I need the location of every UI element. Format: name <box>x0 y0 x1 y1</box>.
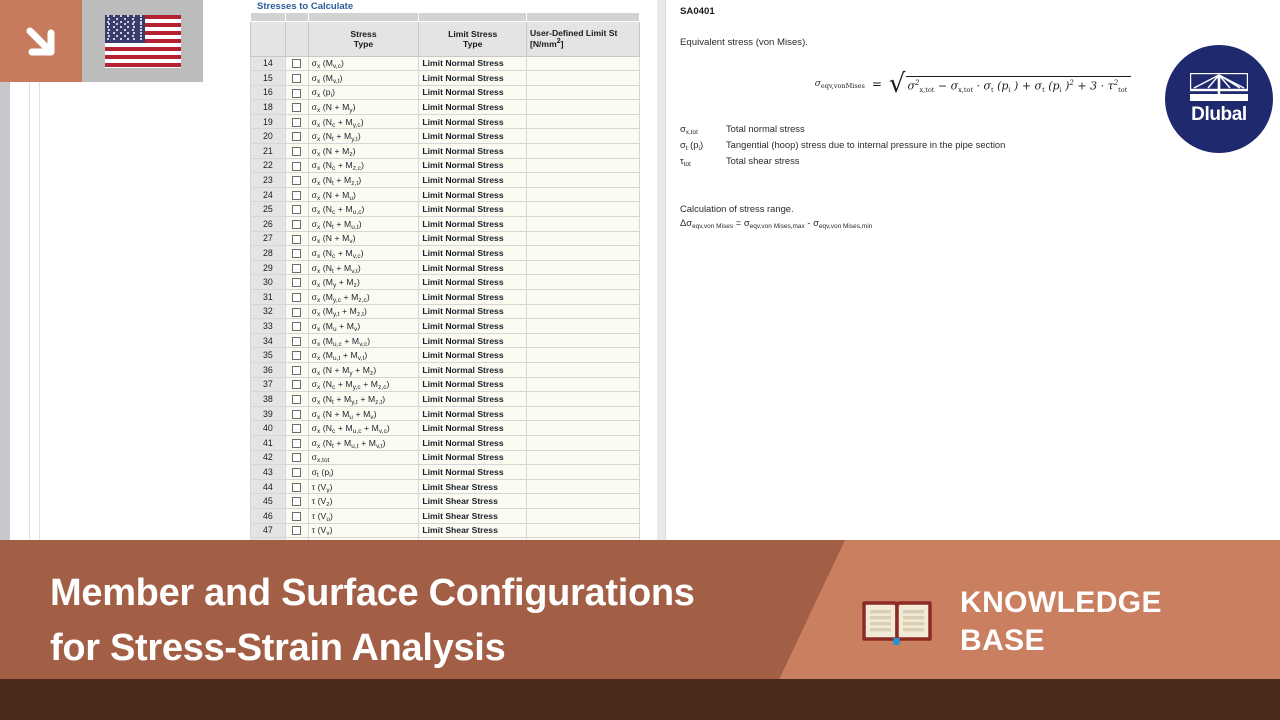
user-defined-limit-cell[interactable] <box>526 494 639 509</box>
checkbox-icon[interactable] <box>292 249 301 258</box>
flag-star <box>124 29 126 31</box>
user-defined-limit-cell[interactable] <box>526 304 639 319</box>
row-checkbox-cell[interactable] <box>285 377 308 392</box>
user-defined-limit-cell[interactable] <box>526 114 639 129</box>
checkbox-icon[interactable] <box>292 89 301 98</box>
limit-stress-type-cell[interactable]: Limit Normal Stress <box>419 231 527 246</box>
checkbox-icon[interactable] <box>292 322 301 331</box>
subscript: x <box>317 341 320 348</box>
limit-stress-type-cell[interactable]: Limit Normal Stress <box>419 435 527 450</box>
legend-symbol-sub: tot <box>684 161 691 168</box>
subscript: x <box>317 63 320 70</box>
stress-type-cell[interactable]: σx (N + Mu) <box>308 187 419 202</box>
stress-type-cell[interactable]: σx (Mu + Mv) <box>308 319 419 334</box>
checkbox-icon[interactable] <box>292 439 301 448</box>
row-checkbox-cell[interactable] <box>285 406 308 421</box>
limit-stress-type-cell[interactable]: Limit Shear Stress <box>419 523 527 538</box>
table-row[interactable]: 26σx (Nt + Mu,t)Limit Normal Stress <box>251 217 640 232</box>
flag-canton <box>105 15 145 44</box>
row-number: 19 <box>251 114 286 129</box>
stress-arg-end: + M <box>337 321 354 331</box>
user-defined-limit-cell[interactable] <box>526 275 639 290</box>
row-checkbox-cell[interactable] <box>285 508 308 523</box>
limit-stress-type-cell[interactable]: Limit Normal Stress <box>419 158 527 173</box>
table-row[interactable]: 40σx (Nc + Mu,c + Mv,c)Limit Normal Stre… <box>251 421 640 436</box>
row-checkbox-cell[interactable] <box>285 100 308 115</box>
table-row[interactable]: 38σx (Nt + My,t + Mz,t)Limit Normal Stre… <box>251 392 640 407</box>
checkbox-icon[interactable] <box>292 147 301 156</box>
subscript: v,c <box>333 63 341 70</box>
user-defined-limit-cell[interactable] <box>526 217 639 232</box>
user-defined-limit-cell[interactable] <box>526 450 639 465</box>
subscript: y <box>333 282 336 289</box>
stress-type-cell[interactable]: σx (Nc + Mz,c) <box>308 158 419 173</box>
table-row[interactable]: 35σx (Mu,t + Mv,t)Limit Normal Stress <box>251 348 640 363</box>
limit-stress-type-cell[interactable]: Limit Normal Stress <box>419 275 527 290</box>
user-defined-limit-cell[interactable] <box>526 435 639 450</box>
checkbox-icon[interactable] <box>292 176 301 185</box>
checkbox-icon[interactable] <box>292 118 301 127</box>
stress-type-cell[interactable]: σx (Nc + My,c + Mz,c) <box>308 377 419 392</box>
table-row[interactable]: 14σx (Mv,c)Limit Normal Stress <box>251 56 640 71</box>
row-checkbox-cell[interactable] <box>285 421 308 436</box>
limit-stress-type-cell[interactable]: Limit Normal Stress <box>419 421 527 436</box>
limit-stress-type-cell[interactable]: Limit Normal Stress <box>419 246 527 261</box>
user-defined-limit-cell[interactable] <box>526 348 639 363</box>
stress-arg: (M <box>320 321 333 331</box>
limit-stress-type-cell[interactable]: Limit Normal Stress <box>419 100 527 115</box>
user-defined-limit-cell[interactable] <box>526 290 639 305</box>
subscript: x <box>317 370 320 377</box>
subscript: x <box>317 268 320 275</box>
stress-type-cell[interactable]: σx (N + My + Mz) <box>308 362 419 377</box>
row-checkbox-cell[interactable] <box>285 173 308 188</box>
row-checkbox-cell[interactable] <box>285 435 308 450</box>
user-defined-limit-cell[interactable] <box>526 392 639 407</box>
stress-type-cell[interactable]: σt (pi) <box>308 465 419 480</box>
limit-stress-type-cell[interactable]: Limit Normal Stress <box>419 406 527 421</box>
limit-stress-type-cell[interactable]: Limit Normal Stress <box>419 217 527 232</box>
dlubal-frame-icon <box>1190 73 1248 101</box>
stress-arg: (N + M <box>320 146 349 156</box>
stress-type-cell[interactable]: σx (Mv,t) <box>308 71 419 86</box>
banner-title-line1: Member and Surface Configurations <box>50 566 695 621</box>
flag-star <box>116 35 118 37</box>
table-row[interactable]: 30σx (My + Mz)Limit Normal Stress <box>251 275 640 290</box>
stress-arg: (p <box>319 467 329 477</box>
f-b6-sub: i <box>1060 86 1062 94</box>
row-checkbox-cell[interactable] <box>285 260 308 275</box>
table-row[interactable]: 18σx (N + My)Limit Normal Stress <box>251 100 640 115</box>
subscript: u <box>349 414 353 421</box>
subscript: v,c <box>353 253 361 260</box>
row-checkbox-cell[interactable] <box>285 479 308 494</box>
stress-type-cell[interactable]: σx (My + Mz) <box>308 275 419 290</box>
stress-type-cell[interactable]: σx (Mv,c) <box>308 56 419 71</box>
checkbox-icon[interactable] <box>292 162 301 171</box>
limit-stress-type-cell[interactable]: Limit Normal Stress <box>419 304 527 319</box>
row-number: 18 <box>251 100 286 115</box>
stress-arg-end2: ) <box>359 219 362 229</box>
limit-stress-type-cell[interactable]: Limit Normal Stress <box>419 129 527 144</box>
checkbox-icon[interactable] <box>292 497 301 506</box>
checkbox-icon[interactable] <box>292 308 301 317</box>
f-b3: · σ <box>976 80 991 93</box>
table-row[interactable]: 31σx (My,c + Mz,c)Limit Normal Stress <box>251 290 640 305</box>
row-checkbox-cell[interactable] <box>285 187 308 202</box>
subscript: x <box>317 224 320 231</box>
table-row[interactable]: 27σx (N + Mv)Limit Normal Stress <box>251 231 640 246</box>
stress-arg: (N + M <box>320 233 349 243</box>
stress-arg: (N + M <box>320 102 349 112</box>
stress-type-cell[interactable]: σx (N + My) <box>308 100 419 115</box>
row-checkbox-cell[interactable] <box>285 85 308 100</box>
stress-type-cell[interactable]: σx,tot <box>308 450 419 465</box>
checkbox-icon[interactable] <box>292 410 301 419</box>
table-row[interactable]: 37σx (Nc + My,c + Mz,c)Limit Normal Stre… <box>251 377 640 392</box>
subscript: x <box>317 151 320 158</box>
stress-arg: (N <box>320 423 332 433</box>
row-number: 45 <box>251 494 286 509</box>
radical-body: σ2x,tot − σx,tot · σt (pi ) + σt (pi )2 … <box>906 76 1132 93</box>
user-defined-limit-cell[interactable] <box>526 202 639 217</box>
limit-stress-type-cell[interactable]: Limit Normal Stress <box>419 114 527 129</box>
row-checkbox-cell[interactable] <box>285 494 308 509</box>
stress-arg-end: ) <box>353 233 356 243</box>
table-row[interactable]: 46τ (Vu)Limit Shear Stress <box>251 508 640 523</box>
flag-star <box>140 29 142 31</box>
row-checkbox-cell[interactable] <box>285 465 308 480</box>
stress-type-cell[interactable]: σx (Mu,c + Mv,c) <box>308 333 419 348</box>
user-defined-limit-cell[interactable] <box>526 100 639 115</box>
stress-type-cell[interactable]: σx (N + Mu + Mv) <box>308 406 419 421</box>
table-row[interactable]: 47τ (Vv)Limit Shear Stress <box>251 523 640 538</box>
kb-line1: KNOWLEDGE <box>960 584 1162 622</box>
user-defined-limit-cell[interactable] <box>526 319 639 334</box>
table-row[interactable]: 22σx (Nc + Mz,c)Limit Normal Stress <box>251 158 640 173</box>
row-checkbox-cell[interactable] <box>285 304 308 319</box>
row-checkbox-cell[interactable] <box>285 275 308 290</box>
stresses-to-calculate-panel: Stresses to Calculate <box>250 0 658 540</box>
user-defined-limit-cell[interactable] <box>526 508 639 523</box>
checkbox-icon[interactable] <box>292 132 301 141</box>
stress-type-cell[interactable]: σx (Nc + Mu,c) <box>308 202 419 217</box>
flag-badge <box>82 0 203 82</box>
stress-type-cell[interactable]: τ (Vu) <box>308 508 419 523</box>
checkbox-icon[interactable] <box>292 380 301 389</box>
table-row[interactable]: 34σx (Mu,c + Mv,c)Limit Normal Stress <box>251 333 640 348</box>
row-number: 35 <box>251 348 286 363</box>
table-row[interactable]: 20σx (Nt + My,t)Limit Normal Stress <box>251 129 640 144</box>
user-defined-limit-cell[interactable] <box>526 144 639 159</box>
user-defined-limit-cell[interactable] <box>526 129 639 144</box>
user-defined-limit-cell[interactable] <box>526 421 639 436</box>
checkbox-icon[interactable] <box>292 191 301 200</box>
user-defined-limit-cell[interactable] <box>526 465 639 480</box>
row-number: 39 <box>251 406 286 421</box>
row-checkbox-cell[interactable] <box>285 246 308 261</box>
user-defined-limit-cell[interactable] <box>526 377 639 392</box>
subscript: z <box>370 370 373 377</box>
panel-splitter[interactable] <box>657 0 666 540</box>
limit-stress-type-cell[interactable]: Limit Normal Stress <box>419 319 527 334</box>
user-defined-limit-cell[interactable] <box>526 362 639 377</box>
user-defined-limit-cell[interactable] <box>526 260 639 275</box>
dlubal-wordmark: Dlubal <box>1191 104 1247 126</box>
stress-arg-end2: ) <box>361 117 364 127</box>
subscript: z <box>354 282 357 289</box>
row-number: 32 <box>251 304 286 319</box>
user-defined-limit-cell[interactable] <box>526 333 639 348</box>
checkbox-icon[interactable] <box>292 351 301 360</box>
table-row[interactable]: 25σx (Nc + Mu,c)Limit Normal Stress <box>251 202 640 217</box>
limit-stress-type-cell[interactable]: Limit Normal Stress <box>419 333 527 348</box>
table-row[interactable]: 41σx (Nt + Mu,t + Mv,t)Limit Normal Stre… <box>251 435 640 450</box>
row-number: 31 <box>251 290 286 305</box>
table-row[interactable]: 39σx (N + Mu + Mv)Limit Normal Stress <box>251 406 640 421</box>
user-defined-limit-cell[interactable] <box>526 523 639 538</box>
stress-arg-end: + M <box>353 409 370 419</box>
limit-stress-type-cell[interactable]: Limit Normal Stress <box>419 56 527 71</box>
subscript: z <box>349 151 352 158</box>
row-checkbox-cell[interactable] <box>285 56 308 71</box>
row-checkbox-cell[interactable] <box>285 392 308 407</box>
limit-stress-type-cell[interactable]: Limit Normal Stress <box>419 260 527 275</box>
band-cell-num <box>251 13 286 21</box>
limit-stress-type-cell[interactable]: Limit Normal Stress <box>419 202 527 217</box>
table-row[interactable]: 15σx (Mv,t)Limit Normal Stress <box>251 71 640 86</box>
stress-arg: (N <box>320 160 332 170</box>
checkbox-icon[interactable] <box>292 74 301 83</box>
checkbox-icon[interactable] <box>292 483 301 492</box>
checkbox-icon[interactable] <box>292 264 301 273</box>
subscript: x <box>317 195 320 202</box>
row-checkbox-cell[interactable] <box>285 144 308 159</box>
checkbox-icon[interactable] <box>292 337 301 346</box>
limit-stress-type-cell[interactable]: Limit Shear Stress <box>419 479 527 494</box>
stress-type-cell[interactable]: σx (My,c + Mz,c) <box>308 290 419 305</box>
subscript: c <box>332 209 335 216</box>
col-header-limit-stress-type[interactable]: Limit Stress Type <box>419 21 527 56</box>
limit-stress-type-cell[interactable]: Limit Normal Stress <box>419 290 527 305</box>
row-checkbox-cell[interactable] <box>285 114 308 129</box>
subscript: x <box>317 107 320 114</box>
limit-stress-type-cell[interactable]: Limit Normal Stress <box>419 392 527 407</box>
table-row[interactable]: 16σx (pi)Limit Normal Stress <box>251 85 640 100</box>
stress-type-cell[interactable]: σx (My,t + Mz,t) <box>308 304 419 319</box>
stress-type-cell[interactable]: τ (Vy) <box>308 479 419 494</box>
table-row[interactable]: 43σt (pi)Limit Normal Stress <box>251 465 640 480</box>
limit-stress-type-cell[interactable]: Limit Shear Stress <box>419 508 527 523</box>
subscript: v,c <box>359 341 367 348</box>
row-checkbox-cell[interactable] <box>285 231 308 246</box>
flag-star <box>133 38 135 40</box>
user-defined-limit-cell[interactable] <box>526 85 639 100</box>
checkbox-icon[interactable] <box>292 526 301 535</box>
legend-symbol-sub: x,tot <box>686 129 698 136</box>
limit-stress-type-cell[interactable]: Limit Normal Stress <box>419 450 527 465</box>
user-defined-limit-cell[interactable] <box>526 158 639 173</box>
flag-star <box>127 38 129 40</box>
limit-stress-type-cell[interactable]: Limit Normal Stress <box>419 362 527 377</box>
subscript: u,c <box>333 341 342 348</box>
stress-arg: (V <box>315 482 326 492</box>
f-b3-sub: t <box>991 86 994 94</box>
stress-type-cell[interactable]: σx (Nc + My,c) <box>308 114 419 129</box>
row-checkbox-cell[interactable] <box>285 158 308 173</box>
flag-star <box>120 38 122 40</box>
knowledge-base-text: KNOWLEDGE BASE <box>960 584 1162 661</box>
subscript: x <box>317 414 320 421</box>
limit-stress-type-cell[interactable]: Limit Normal Stress <box>419 187 527 202</box>
checkbox-icon[interactable] <box>292 278 301 287</box>
user-defined-limit-cell[interactable] <box>526 173 639 188</box>
checkbox-icon[interactable] <box>292 59 301 68</box>
stresses-grid-wrapper[interactable]: Stress Type Limit Stress Type User-Defin… <box>250 13 658 540</box>
stress-type-cell[interactable]: τ (Vv) <box>308 523 419 538</box>
checkbox-icon[interactable] <box>292 395 301 404</box>
subscript: z,t <box>357 311 364 318</box>
legend-row: σt (pi)Tangential (hoop) stress due to i… <box>680 139 1266 150</box>
stress-type-cell[interactable]: σx (Nc + Mv,c) <box>308 246 419 261</box>
col-header-user-defined-limit[interactable]: User-Defined Limit St [N/mm2] <box>526 21 639 56</box>
legend-symbol: σt (pi) <box>680 139 726 150</box>
subscript: u <box>349 195 353 202</box>
stress-type-cell[interactable]: σx (Nt + Mu,t) <box>308 217 419 232</box>
limit-stress-type-cell[interactable]: Limit Normal Stress <box>419 377 527 392</box>
table-row[interactable]: 23σx (Nt + Mz,t)Limit Normal Stress <box>251 173 640 188</box>
limit-stress-type-cell[interactable]: Limit Normal Stress <box>419 85 527 100</box>
user-defined-limit-cell[interactable] <box>526 246 639 261</box>
stress-arg-end2: ) <box>358 175 361 185</box>
stress-type-cell[interactable]: τ (Vz) <box>308 494 419 509</box>
table-row[interactable]: 44τ (Vy)Limit Shear Stress <box>251 479 640 494</box>
col-header-stress-type[interactable]: Stress Type <box>308 21 419 56</box>
user-defined-limit-cell[interactable] <box>526 71 639 86</box>
table-row[interactable]: 21σx (N + Mz)Limit Normal Stress <box>251 144 640 159</box>
stress-arg-end3: ) <box>382 394 385 404</box>
row-checkbox-cell[interactable] <box>285 348 308 363</box>
f-b8: + 3 · τ <box>1077 80 1113 93</box>
band-cell-stress <box>308 13 419 21</box>
checkbox-icon[interactable] <box>292 424 301 433</box>
checkbox-icon[interactable] <box>292 235 301 244</box>
limit-stress-type-cell[interactable]: Limit Shear Stress <box>419 494 527 509</box>
limit-stress-type-cell[interactable]: Limit Normal Stress <box>419 144 527 159</box>
stress-type-cell[interactable]: σx (Nt + My,t) <box>308 129 419 144</box>
stress-arg-end: + M <box>334 175 351 185</box>
user-defined-limit-cell[interactable] <box>526 56 639 71</box>
flag-star <box>108 29 110 31</box>
flag-star <box>107 15 109 17</box>
checkbox-icon[interactable] <box>292 366 301 375</box>
limit-stress-type-cell[interactable]: Limit Normal Stress <box>419 173 527 188</box>
row-number: 26 <box>251 217 286 232</box>
radical-sign-icon: √ <box>889 76 906 93</box>
row-number: 20 <box>251 129 286 144</box>
row-checkbox-cell[interactable] <box>285 362 308 377</box>
stress-arg: (V <box>315 525 326 535</box>
checkbox-icon[interactable] <box>292 453 301 462</box>
stress-arg: (N <box>320 175 332 185</box>
subscript: x <box>317 78 320 85</box>
row-checkbox-cell[interactable] <box>285 217 308 232</box>
row-number: 37 <box>251 377 286 392</box>
stress-type-cell[interactable]: σx (Nt + Mz,t) <box>308 173 419 188</box>
stress-type-cell[interactable]: σx (N + Mz) <box>308 144 419 159</box>
row-checkbox-cell[interactable] <box>285 71 308 86</box>
subscript: x <box>317 326 320 333</box>
table-row[interactable]: 32σx (My,t + Mz,t)Limit Normal Stress <box>251 304 640 319</box>
user-defined-limit-cell[interactable] <box>526 231 639 246</box>
stress-type-cell[interactable]: σx (pi) <box>308 85 419 100</box>
table-row[interactable]: 36σx (N + My + Mz)Limit Normal Stress <box>251 362 640 377</box>
user-defined-limit-cell[interactable] <box>526 406 639 421</box>
row-checkbox-cell[interactable] <box>285 129 308 144</box>
stress-arg: (N <box>320 394 332 404</box>
subscript: v,c <box>379 428 387 435</box>
checkbox-icon[interactable] <box>292 468 301 477</box>
stress-type-cell[interactable]: σx (N + Mv) <box>308 231 419 246</box>
subscript: t <box>332 180 334 187</box>
row-checkbox-cell[interactable] <box>285 333 308 348</box>
row-number: 30 <box>251 275 286 290</box>
checkbox-icon[interactable] <box>292 103 301 112</box>
checkbox-icon[interactable] <box>292 205 301 214</box>
stress-arg-end2: ) <box>358 131 361 141</box>
limit-stress-type-cell[interactable]: Limit Normal Stress <box>419 71 527 86</box>
table-row[interactable]: 29σx (Nt + Mv,t)Limit Normal Stress <box>251 260 640 275</box>
checkbox-icon[interactable] <box>292 293 301 302</box>
table-row[interactable]: 42σx,totLimit Normal Stress <box>251 450 640 465</box>
row-checkbox-cell[interactable] <box>285 290 308 305</box>
table-row[interactable]: 24σx (N + Mu)Limit Normal Stress <box>251 187 640 202</box>
table-row[interactable]: 45τ (Vz)Limit Shear Stress <box>251 494 640 509</box>
flag-star <box>127 15 129 17</box>
subscript: y,t <box>351 136 358 143</box>
limit-stress-type-cell[interactable]: Limit Normal Stress <box>419 465 527 480</box>
user-defined-limit-cell[interactable] <box>526 479 639 494</box>
knowledge-base-group: KNOWLEDGE BASE <box>862 584 1162 661</box>
subscript: y,t <box>351 399 358 406</box>
stress-type-cell[interactable]: σx (Nt + My,t + Mz,t) <box>308 392 419 407</box>
col-header-rownum[interactable] <box>251 21 286 56</box>
stress-arg-end: ) <box>353 146 356 156</box>
row-checkbox-cell[interactable] <box>285 523 308 538</box>
table-row[interactable]: 28σx (Nc + Mv,c)Limit Normal Stress <box>251 246 640 261</box>
stress-arg-end2: ) <box>357 321 360 331</box>
stress-type-cell[interactable]: σx (Nt + Mv,t) <box>308 260 419 275</box>
col-header-checkbox[interactable] <box>285 21 308 56</box>
stress-type-cell[interactable]: σx (Nc + Mu,c + Mv,c) <box>308 421 419 436</box>
limit-stress-type-cell[interactable]: Limit Normal Stress <box>419 348 527 363</box>
row-number: 40 <box>251 421 286 436</box>
table-row[interactable]: 19σx (Nc + My,c)Limit Normal Stress <box>251 114 640 129</box>
row-checkbox-cell[interactable] <box>285 202 308 217</box>
row-checkbox-cell[interactable] <box>285 450 308 465</box>
checkbox-icon[interactable] <box>292 512 301 521</box>
stress-arg: (N <box>320 379 332 389</box>
stress-type-cell[interactable]: σx (Mu,t + Mv,t) <box>308 348 419 363</box>
checkbox-icon[interactable] <box>292 220 301 229</box>
row-number: 16 <box>251 85 286 100</box>
stress-arg-end2: ) <box>374 409 377 419</box>
stress-type-cell[interactable]: σx (Nt + Mu,t + Mv,t) <box>308 435 419 450</box>
table-row[interactable]: 33σx (Mu + Mv)Limit Normal Stress <box>251 319 640 334</box>
stress-arg-end2: ) <box>364 306 367 316</box>
user-defined-limit-cell[interactable] <box>526 187 639 202</box>
row-checkbox-cell[interactable] <box>285 319 308 334</box>
